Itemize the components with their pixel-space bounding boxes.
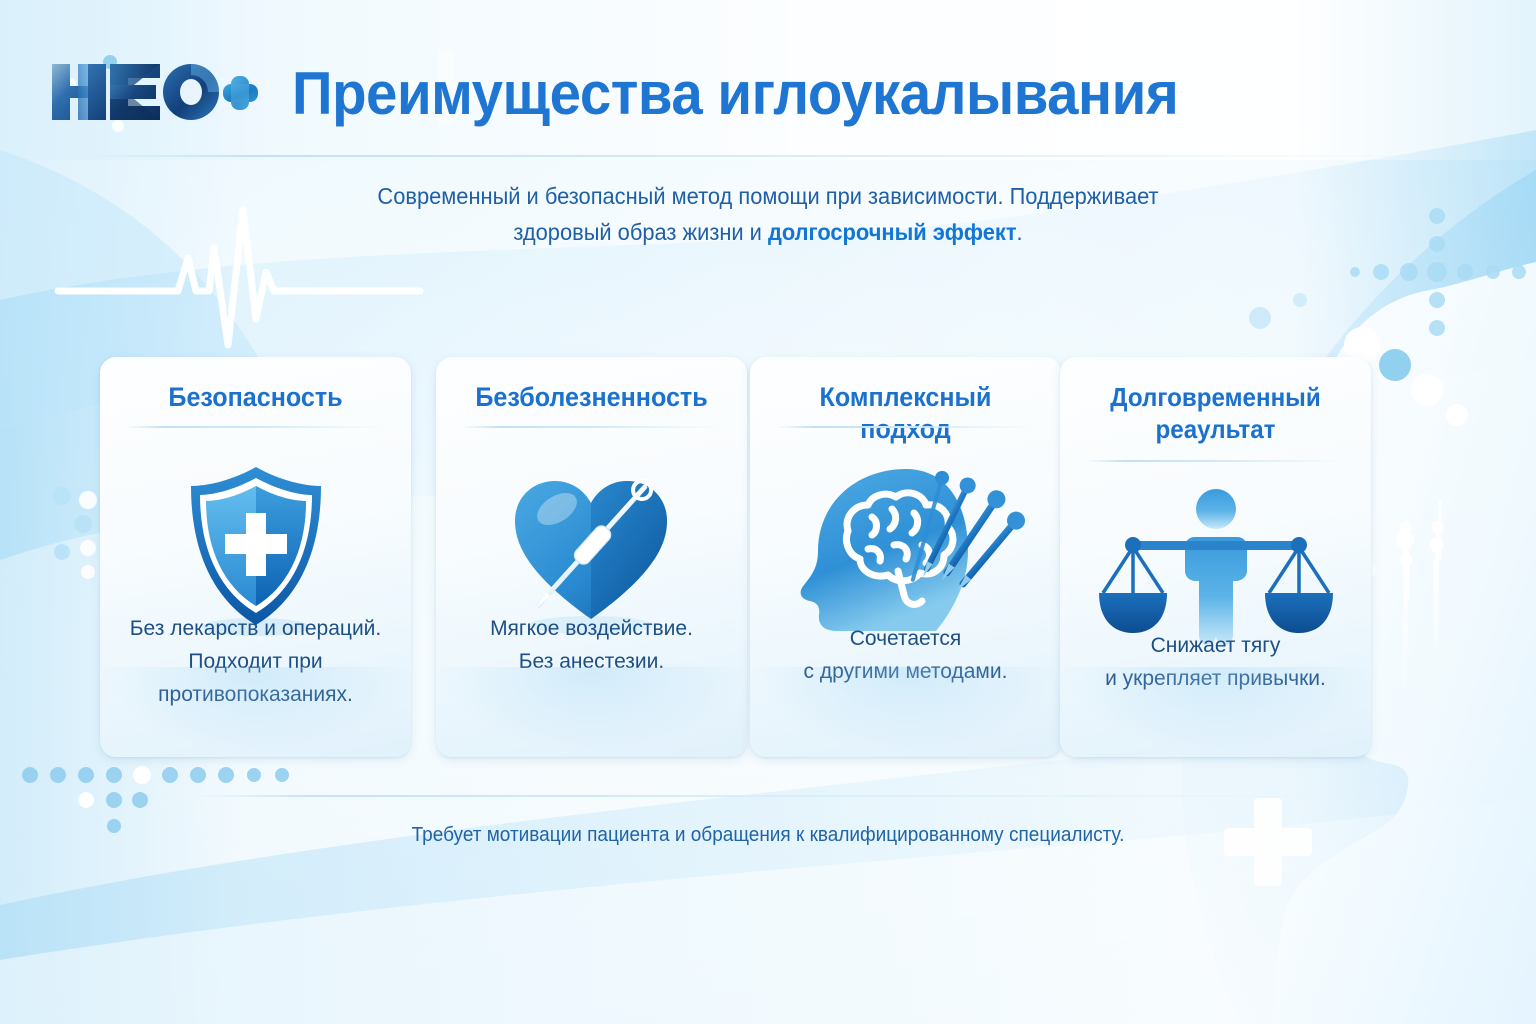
card-text-line: Мягкое воздействие.	[490, 617, 693, 640]
card-text-line: Без лекарств и операций.	[130, 617, 382, 640]
infographic-canvas: Преимущества иглоукалывания Современный …	[0, 0, 1536, 1024]
card-title-line-2: реаультат	[1155, 414, 1275, 444]
benefit-card-long-term-result[interactable]: Долговременный реаультат	[1060, 357, 1371, 757]
card-title: Безболезненность	[460, 381, 723, 413]
head-brain-needles-icon	[750, 449, 1061, 649]
footer-note: Требует мотивации пациента и обращения к…	[293, 820, 1243, 850]
card-description: Сочетается с другими методами.	[762, 622, 1049, 688]
card-text-line: Сочетается	[850, 627, 962, 650]
neo-plus-logo-icon	[48, 56, 258, 128]
benefit-card-safety[interactable]: Безопасность	[100, 357, 411, 757]
card-title: Долговременный реаультат	[1084, 381, 1347, 445]
card-text-line: противопоказаниях.	[158, 683, 353, 706]
card-description: Мягкое воздействие. Без анестезии.	[448, 612, 735, 678]
card-title: Безопасность	[124, 381, 387, 413]
benefit-card-painless[interactable]: Безболезненность	[436, 357, 747, 757]
card-title-line-1: Долговременный	[1110, 382, 1320, 412]
card-title-divider	[776, 426, 1035, 428]
card-title-divider	[1086, 460, 1345, 462]
brand-logo	[48, 56, 258, 128]
card-title: Комплексный подход	[774, 381, 1037, 445]
card-description: Без лекарств и операций. Подходит при пр…	[112, 612, 399, 711]
card-title-divider	[126, 426, 385, 428]
subtitle-line-1: Современный и безопасный метод помощи пр…	[377, 183, 1158, 209]
card-text-line: Снижает тягу	[1151, 634, 1281, 657]
header: Преимущества иглоукалывания	[0, 0, 1536, 156]
benefit-card-complex-approach[interactable]: Комплексный подход	[750, 357, 1061, 757]
subtitle-line-2-prefix: здоровый образ жизни и	[513, 219, 768, 245]
page-title: Преимущества иглоукалывания	[292, 58, 1178, 130]
subtitle: Современный и безопасный метод помощи пр…	[293, 178, 1243, 250]
subtitle-line-2-suffix: .	[1017, 219, 1023, 245]
footer-divider	[196, 795, 1356, 797]
card-text-line: с другими методами.	[804, 660, 1008, 683]
card-text-line: и укрепляет привычки.	[1105, 667, 1326, 690]
card-text-line: Подходит при	[188, 650, 322, 673]
card-text-line: Без анестезии.	[519, 650, 664, 673]
header-divider	[88, 155, 1448, 157]
card-description: Снижает тягу и укрепляет привычки.	[1072, 629, 1359, 695]
benefit-cards: Безопасность	[0, 357, 1536, 759]
card-title-divider	[462, 426, 721, 428]
subtitle-highlight: долгосрочный эффект	[768, 219, 1017, 245]
